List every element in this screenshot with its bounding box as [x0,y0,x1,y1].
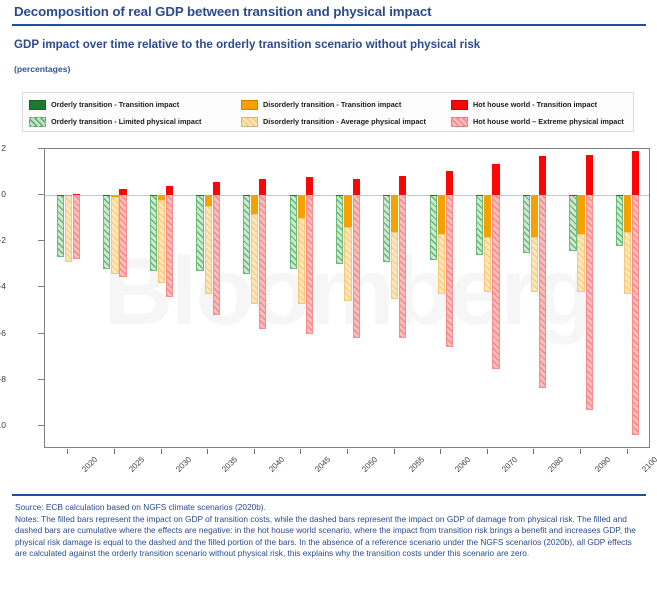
bar-disorderly-transition-2035[interactable] [205,195,212,205]
y-axis-tick-label: 0 [0,189,6,199]
legend-swatch-orange-solid-icon [241,100,258,110]
bar-orderly-physical-2035[interactable] [196,195,203,271]
bar-hothouse-transition-2070[interactable] [492,164,499,195]
legend-item-orderly-physical[interactable]: Orderly transition - Limited physical im… [29,113,201,130]
bar-orderly-transition-2030[interactable] [150,195,157,196]
bar-hothouse-transition-2050[interactable] [353,179,360,195]
bar-disorderly-transition-2100[interactable] [624,195,631,232]
bar-hothouse-physical-2055[interactable] [399,176,406,339]
plot-area: Bloomberg [44,148,650,448]
bar-orderly-transition-2050[interactable] [336,195,343,196]
bar-hothouse-transition-2055[interactable] [399,176,406,196]
chart-panel: Decomposition of real GDP between transi… [0,0,657,600]
bar-orderly-transition-2100[interactable] [616,195,623,196]
x-axis-tick-label: 2060 [453,455,472,474]
bar-disorderly-physical-2025[interactable] [111,197,118,273]
bar-disorderly-transition-2080[interactable] [531,195,538,237]
bar-orderly-transition-2060[interactable] [430,195,437,196]
legend-label: Orderly transition - Limited physical im… [51,117,201,126]
bar-orderly-physical-2060[interactable] [430,195,437,260]
legend-item-orderly-transition[interactable]: Orderly transition - Transition impact [29,96,201,113]
y-axis-tick-label: -4 [0,281,6,291]
bar-orderly-physical-2050[interactable] [336,195,343,264]
bar-hothouse-physical-2050[interactable] [353,179,360,338]
bar-orderly-physical-2070[interactable] [476,195,483,255]
bar-orderly-physical-2055[interactable] [383,195,390,262]
bar-orderly-transition-2045[interactable] [290,195,297,196]
bar-hothouse-transition-2060[interactable] [446,171,453,195]
bar-orderly-physical-2020[interactable] [57,195,64,257]
legend-label: Hot house world – Extreme physical impac… [473,117,624,126]
bar-hothouse-transition-2045[interactable] [306,177,313,195]
plot-inner: Bloomberg [45,149,649,447]
x-axis-tick-label: 2100 [640,455,657,474]
bar-disorderly-physical-2020[interactable] [65,195,72,262]
legend-column-disorderly: Disorderly transition - Transition impac… [241,96,426,130]
bar-orderly-transition-2055[interactable] [383,195,390,196]
y-axis-tick-label: -8 [0,374,6,384]
x-axis-tick-mark [580,449,581,454]
bar-hothouse-transition-2035[interactable] [213,182,220,195]
bar-hothouse-transition-2030[interactable] [166,186,173,195]
bar-disorderly-physical-2070[interactable] [484,237,491,292]
x-axis-tick-mark [67,449,68,454]
y-axis-tick-label: -2 [0,235,6,245]
bar-hothouse-transition-2080[interactable] [539,156,546,195]
x-axis-tick-mark [487,449,488,454]
chart-units-label: (percentages) [14,64,70,74]
bar-disorderly-physical-2040[interactable] [251,214,258,304]
bar-disorderly-physical-2045[interactable] [298,218,305,303]
bar-disorderly-transition-2040[interactable] [251,195,258,213]
bar-disorderly-transition-2045[interactable] [298,195,305,218]
legend-swatch-green-solid-icon [29,100,46,110]
bar-hothouse-physical-2025[interactable] [119,189,126,277]
x-axis-tick-mark [440,449,441,454]
bar-disorderly-transition-2060[interactable] [438,195,445,234]
x-axis-tick-mark [114,449,115,454]
x-axis-tick-label: 2045 [314,455,333,474]
x-axis-tick-label: 2050 [360,455,379,474]
bar-orderly-physical-2045[interactable] [290,195,297,269]
x-axis-tick-mark [347,449,348,454]
x-axis-tick-label: 2070 [500,455,519,474]
legend-label: Disorderly transition - Average physical… [263,117,426,126]
x-axis-tick-mark [627,449,628,454]
footer-divider [12,494,646,496]
x-axis-tick-label: 2055 [407,455,426,474]
bar-disorderly-transition-2030[interactable] [158,195,165,200]
x-axis-tick-mark [207,449,208,454]
bar-orderly-transition-2080[interactable] [523,195,530,196]
bar-disorderly-physical-2090[interactable] [577,234,584,292]
footer-notes: Source: ECB calculation based on NGFS cl… [15,502,643,560]
bar-hothouse-transition-2025[interactable] [119,189,126,195]
bar-hothouse-transition-2040[interactable] [259,179,266,195]
bar-orderly-transition-2020[interactable] [57,195,64,196]
bar-orderly-physical-2030[interactable] [150,195,157,271]
bar-hothouse-physical-2020[interactable] [73,194,80,259]
x-axis-tick-mark [300,449,301,454]
footer-note-body: Notes: The filled bars represent the imp… [15,514,643,560]
bar-hothouse-transition-2090[interactable] [586,155,593,195]
bar-orderly-transition-2025[interactable] [103,195,110,196]
y-axis-tick-label: -10 [0,420,6,430]
legend-label: Hot house world - Transition impact [473,100,597,109]
bar-hothouse-transition-2020[interactable] [73,194,80,195]
bar-disorderly-physical-2050[interactable] [344,227,351,301]
bar-orderly-transition-2035[interactable] [196,195,203,196]
bar-disorderly-physical-2030[interactable] [158,200,165,283]
bar-disorderly-physical-2035[interactable] [205,206,212,295]
bar-disorderly-transition-2090[interactable] [577,195,584,234]
bar-disorderly-physical-2100[interactable] [624,232,631,294]
y-axis-tick-label: -6 [0,328,6,338]
x-axis-tick-label: 2030 [174,455,193,474]
legend-item-disorderly-physical[interactable]: Disorderly transition - Average physical… [241,113,426,130]
bar-orderly-physical-2100[interactable] [616,195,623,246]
bar-orderly-physical-2090[interactable] [569,195,576,250]
legend-item-disorderly-transition[interactable]: Disorderly transition - Transition impac… [241,96,426,113]
legend-swatch-orange-hatch-icon [241,117,258,127]
x-axis-tick-mark [394,449,395,454]
bar-hothouse-physical-2040[interactable] [259,179,266,329]
legend-label: Disorderly transition - Transition impac… [263,100,401,109]
bar-orderly-physical-2040[interactable] [243,195,250,273]
title-divider [12,24,646,26]
legend-label: Orderly transition - Transition impact [51,100,179,109]
x-axis-tick-mark [161,449,162,454]
legend-swatch-red-hatch-icon [451,117,468,127]
bar-disorderly-transition-2050[interactable] [344,195,351,227]
x-axis-tick-label: 2035 [220,455,239,474]
bar-orderly-physical-2025[interactable] [103,195,110,269]
bar-disorderly-physical-2080[interactable] [531,237,538,292]
bar-disorderly-transition-2020[interactable] [65,195,72,196]
legend-swatch-red-solid-icon [451,100,468,110]
legend-item-hothouse-transition[interactable]: Hot house world - Transition impact [451,96,624,113]
chart-subtitle: GDP impact over time relative to the ord… [14,38,644,51]
bar-hothouse-physical-2045[interactable] [306,177,313,334]
x-axis-tick-label: 2025 [127,455,146,474]
bar-hothouse-transition-2100[interactable] [632,151,639,195]
legend-swatch-green-hatch-icon [29,117,46,127]
bar-disorderly-physical-2055[interactable] [391,232,398,299]
bar-hothouse-physical-2035[interactable] [213,182,220,315]
x-axis-tick-mark [254,449,255,454]
legend-column-hothouse: Hot house world - Transition impact Hot … [451,96,624,130]
footer-source: Source: ECB calculation based on NGFS cl… [15,502,643,514]
bar-orderly-physical-2080[interactable] [523,195,530,253]
x-axis-tick-label: 2040 [267,455,286,474]
page-title: Decomposition of real GDP between transi… [14,4,644,19]
bar-disorderly-transition-2055[interactable] [391,195,398,232]
bar-hothouse-physical-2060[interactable] [446,171,453,348]
x-axis-tick-label: 2080 [547,455,566,474]
legend-column-orderly: Orderly transition - Transition impact O… [29,96,201,130]
x-axis-tick-label: 2090 [593,455,612,474]
bar-disorderly-transition-2070[interactable] [484,195,491,237]
bar-hothouse-physical-2030[interactable] [166,186,173,297]
legend-item-hothouse-physical[interactable]: Hot house world – Extreme physical impac… [451,113,624,130]
bar-orderly-transition-2090[interactable] [569,195,576,196]
chart-legend: Orderly transition - Transition impact O… [22,92,634,132]
bar-orderly-transition-2070[interactable] [476,195,483,196]
y-axis-tick-label: 2 [0,143,6,153]
bar-disorderly-transition-2025[interactable] [111,195,118,197]
bar-disorderly-physical-2060[interactable] [438,234,445,294]
x-axis-tick-mark [533,449,534,454]
bar-orderly-transition-2040[interactable] [243,195,250,196]
x-axis-tick-label: 2020 [81,455,100,474]
